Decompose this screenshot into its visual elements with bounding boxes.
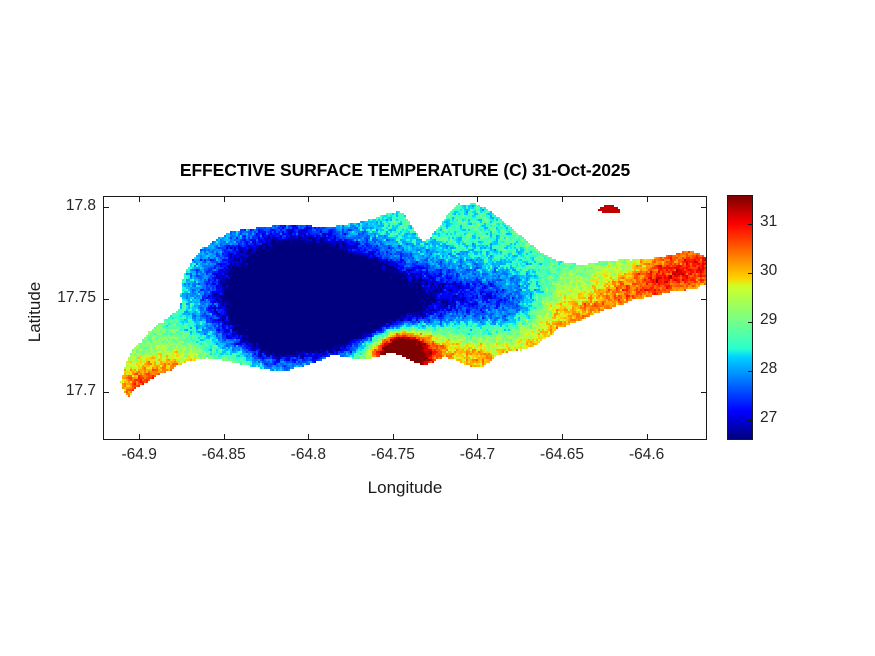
y-tick-label: 17.8 bbox=[66, 197, 96, 215]
x-tick-mark bbox=[308, 434, 309, 440]
colorbar[interactable] bbox=[727, 195, 753, 440]
y-tick-mark bbox=[103, 207, 109, 208]
x-tick-mark bbox=[393, 434, 394, 440]
y-tick-labels: 17.717.7517.8 bbox=[0, 0, 96, 656]
x-tick-label: -64.75 bbox=[353, 446, 433, 464]
x-tick-mark bbox=[562, 196, 563, 202]
colorbar-tick-label: 28 bbox=[760, 360, 777, 378]
x-tick-label: -64.9 bbox=[99, 446, 179, 464]
colorbar-tick-label: 27 bbox=[760, 409, 777, 427]
colorbar-tick-mark bbox=[748, 420, 753, 421]
x-tick-mark bbox=[224, 196, 225, 202]
colorbar-tick-label: 30 bbox=[760, 262, 777, 280]
temperature-heatmap bbox=[104, 197, 707, 440]
y-tick-mark bbox=[701, 299, 707, 300]
x-tick-mark bbox=[647, 434, 648, 440]
map-axes[interactable] bbox=[103, 196, 707, 440]
x-tick-mark bbox=[308, 196, 309, 202]
y-tick-mark bbox=[103, 392, 109, 393]
x-axis-label: Longitude bbox=[103, 478, 707, 498]
x-tick-mark bbox=[393, 196, 394, 202]
x-tick-label: -64.85 bbox=[184, 446, 264, 464]
colorbar-gradient bbox=[727, 195, 753, 440]
chart-title: EFFECTIVE SURFACE TEMPERATURE (C) 31-Oct… bbox=[103, 160, 707, 181]
colorbar-tick-mark bbox=[748, 224, 753, 225]
x-tick-mark bbox=[139, 196, 140, 202]
x-tick-label: -64.7 bbox=[437, 446, 517, 464]
x-tick-mark bbox=[139, 434, 140, 440]
x-tick-mark bbox=[647, 196, 648, 202]
x-tick-label: -64.8 bbox=[268, 446, 348, 464]
colorbar-tick-label: 31 bbox=[760, 213, 777, 231]
colorbar-tick-mark bbox=[748, 322, 753, 323]
y-tick-mark bbox=[701, 392, 707, 393]
colorbar-tick-mark bbox=[748, 371, 753, 372]
x-tick-mark bbox=[562, 434, 563, 440]
colorbar-tick-label: 29 bbox=[760, 311, 777, 329]
y-axis-label: Latitude bbox=[25, 232, 45, 392]
colorbar-tick-mark bbox=[748, 273, 753, 274]
x-tick-label: -64.6 bbox=[607, 446, 687, 464]
x-tick-label: -64.65 bbox=[522, 446, 602, 464]
x-tick-mark bbox=[477, 196, 478, 202]
y-tick-label: 17.7 bbox=[66, 382, 96, 400]
figure-canvas: EFFECTIVE SURFACE TEMPERATURE (C) 31-Oct… bbox=[0, 0, 875, 656]
x-tick-mark bbox=[224, 434, 225, 440]
y-tick-mark bbox=[103, 299, 109, 300]
y-tick-mark bbox=[701, 207, 707, 208]
y-tick-label: 17.75 bbox=[57, 289, 96, 307]
x-tick-mark bbox=[477, 434, 478, 440]
